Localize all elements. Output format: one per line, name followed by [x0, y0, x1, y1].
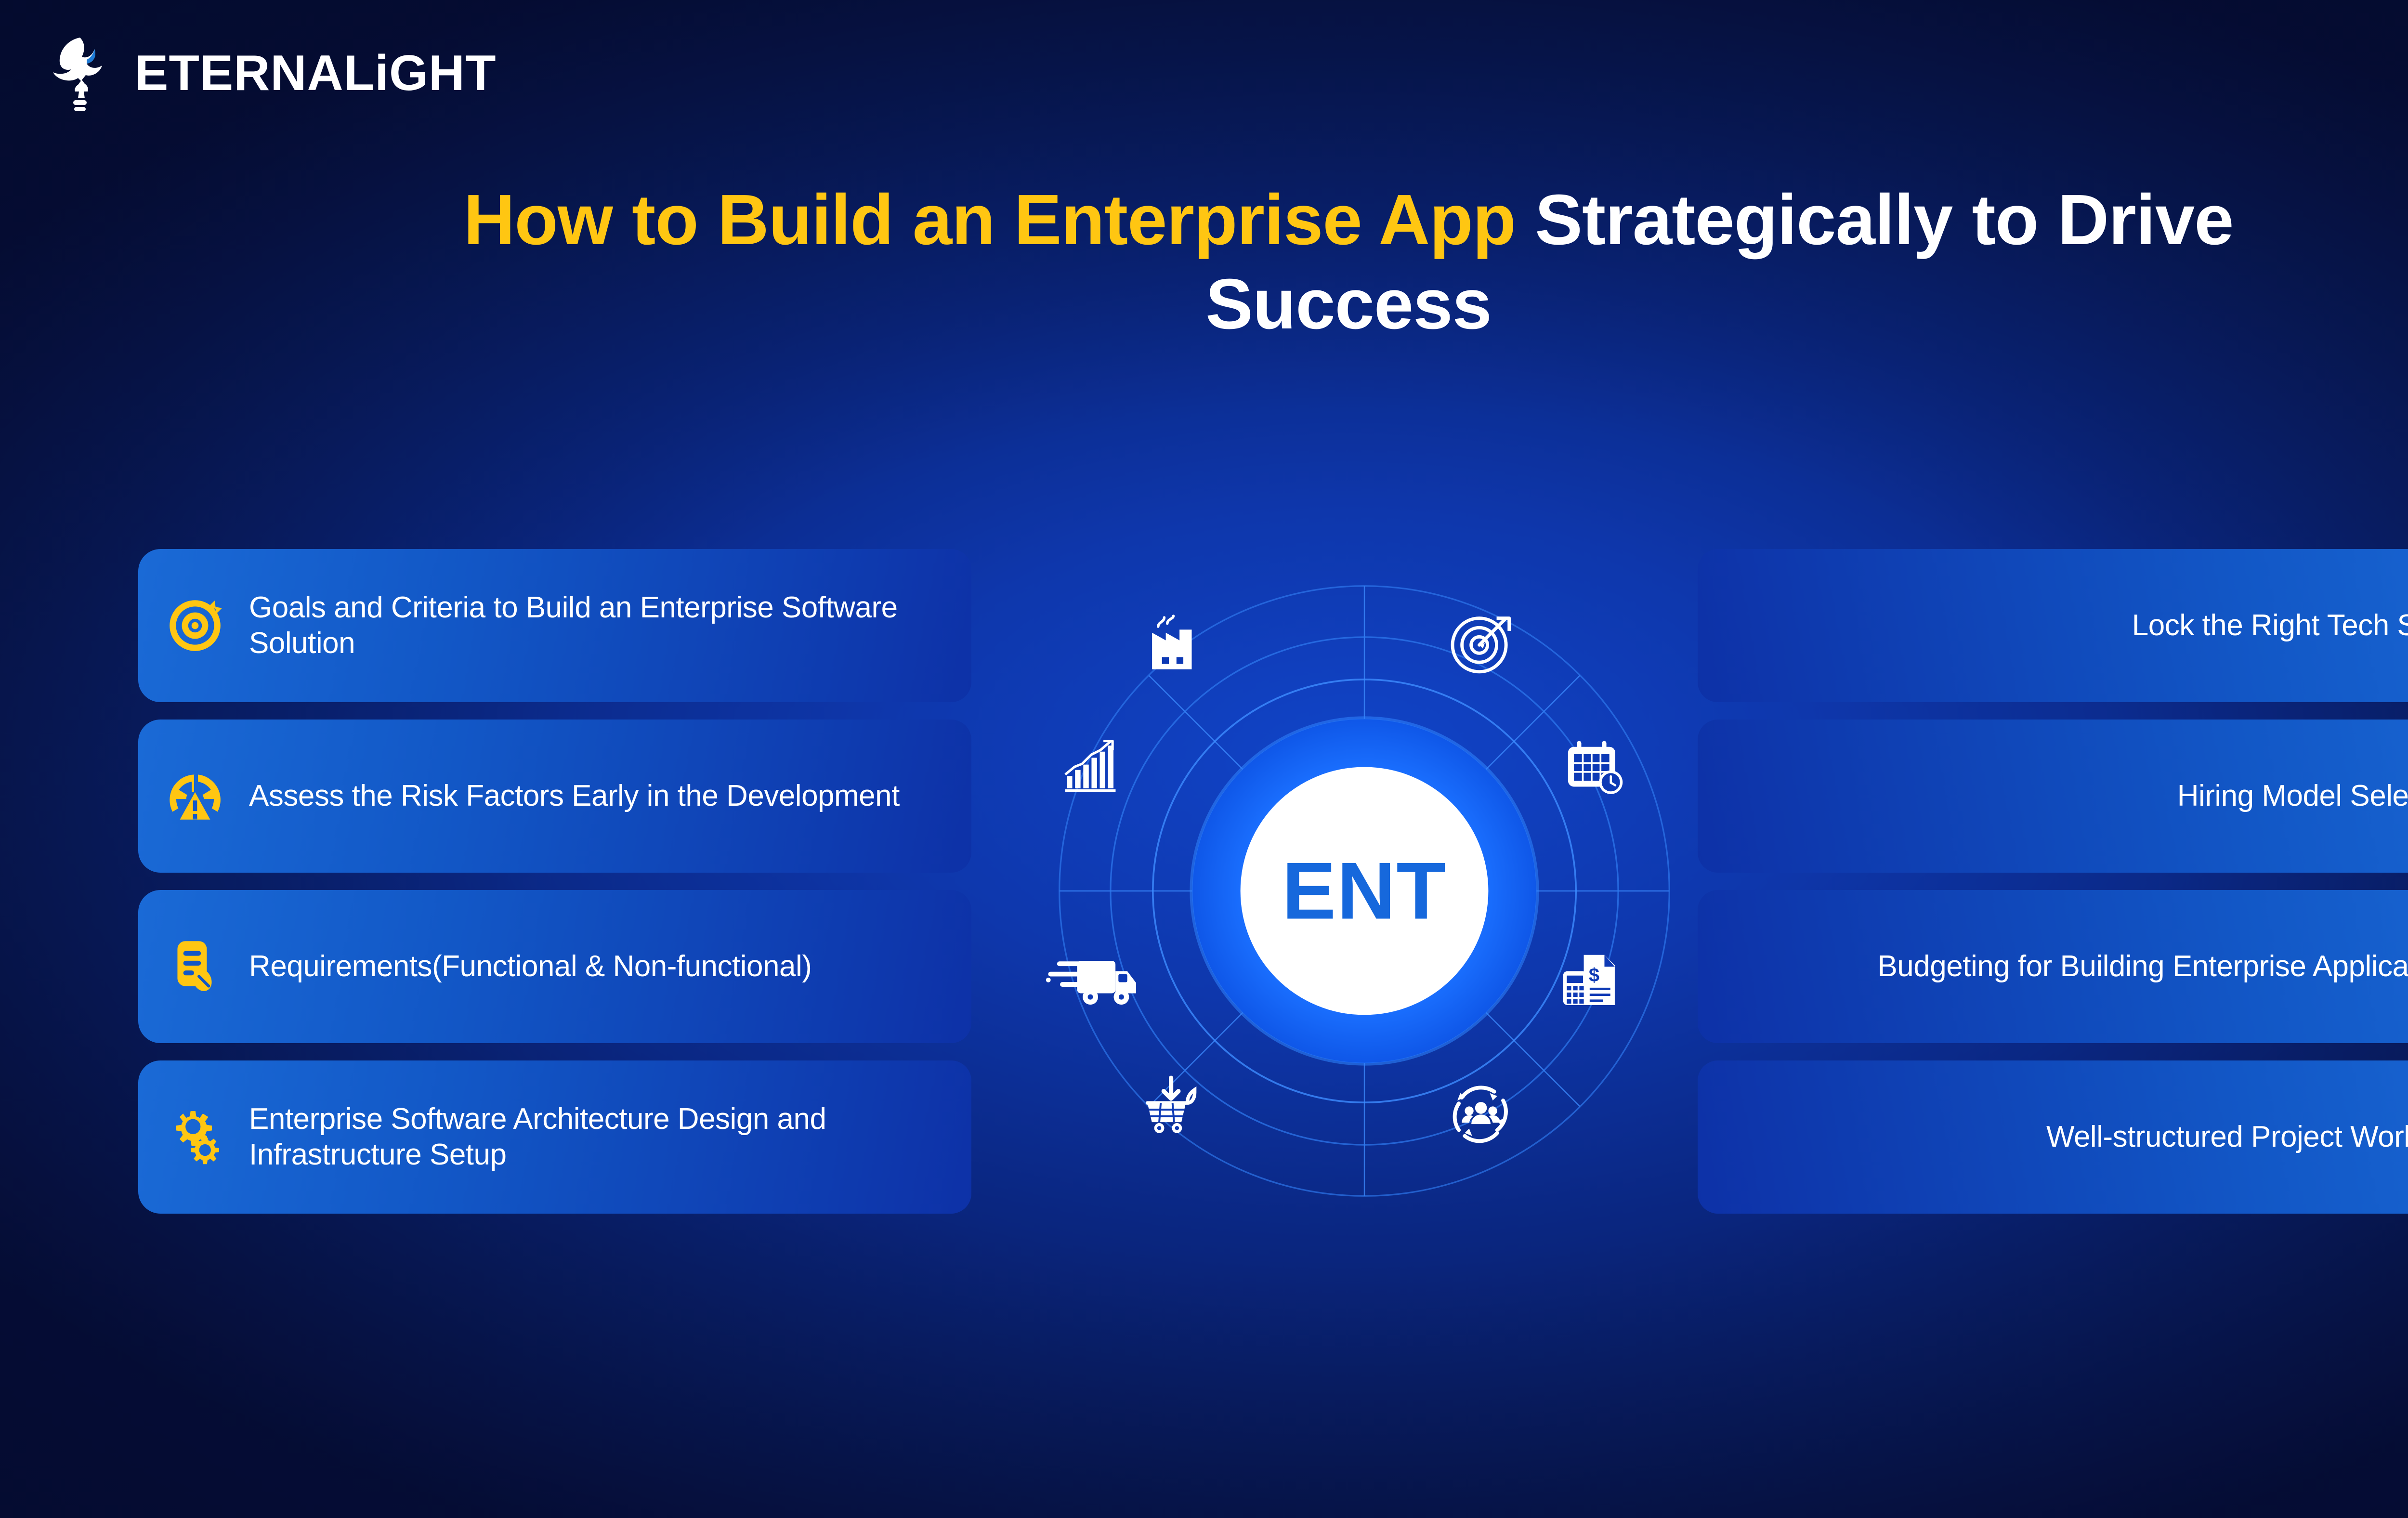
card-goals-criteria[interactable]: Goals and Criteria to Build an Enterpris… — [138, 549, 971, 702]
page-title-highlight: How to Build an Enterprise App — [463, 180, 1516, 260]
page-title: How to Build an Enterprise App Strategic… — [0, 178, 2408, 346]
factory-icon — [1152, 616, 1191, 669]
risk-gauge-warning-icon — [161, 762, 229, 830]
card-label: Hiring Model Selection — [2177, 778, 2408, 814]
card-tech-stack[interactable]: Lock the Right Tech Stack — [1698, 549, 2408, 702]
requirements-document-icon — [161, 933, 229, 1000]
gears-icon — [161, 1103, 229, 1171]
card-label: Budgeting for Building Enterprise Applic… — [1877, 949, 2408, 984]
card-budgeting[interactable]: Budgeting for Building Enterprise Applic… — [1698, 890, 2408, 1043]
card-architecture-design[interactable]: Enterprise Software Architecture Design … — [138, 1060, 971, 1214]
hr-cycle-people-icon — [1455, 1087, 1506, 1141]
brand-wordmark: ETERNALiGHT — [135, 48, 497, 98]
invoice-calculator-icon: $ — [1563, 955, 1615, 1005]
card-label: Well-structured Project Workflow — [2046, 1119, 2408, 1155]
enterprise-hub-diagram: $ — [1020, 547, 1709, 1235]
brand-logo: ETERNALiGHT — [50, 35, 497, 112]
card-label: Lock the Right Tech Stack — [2132, 608, 2408, 643]
card-label: Goals and Criteria to Build an Enterpris… — [249, 590, 948, 662]
card-label: Requirements(Functional & Non-functional… — [249, 949, 811, 984]
torch-icon — [50, 35, 122, 112]
shopping-cart-icon — [1148, 1078, 1195, 1133]
card-project-workflow[interactable]: Well-structured Project Workflow — [1698, 1060, 2408, 1214]
card-risk-factors[interactable]: Assess the Risk Factors Early in the Dev… — [138, 720, 971, 873]
card-hiring-model[interactable]: Hiring Model Selection — [1698, 720, 2408, 873]
svg-text:$: $ — [1589, 965, 1599, 986]
left-card-column: Goals and Criteria to Build an Enterpris… — [138, 549, 971, 1214]
card-label: Assess the Risk Factors Early in the Dev… — [249, 778, 900, 814]
card-requirements[interactable]: Requirements(Functional & Non-functional… — [138, 890, 971, 1043]
calendar-clock-icon — [1568, 741, 1623, 794]
target-goal-icon — [161, 592, 229, 659]
right-card-column: Lock the Right Tech Stack Hiring Model S… — [1698, 549, 2408, 1214]
card-label: Enterprise Software Architecture Design … — [249, 1101, 948, 1173]
target-arrow-icon — [1453, 618, 1509, 672]
bar-chart-growth-icon — [1065, 741, 1115, 791]
